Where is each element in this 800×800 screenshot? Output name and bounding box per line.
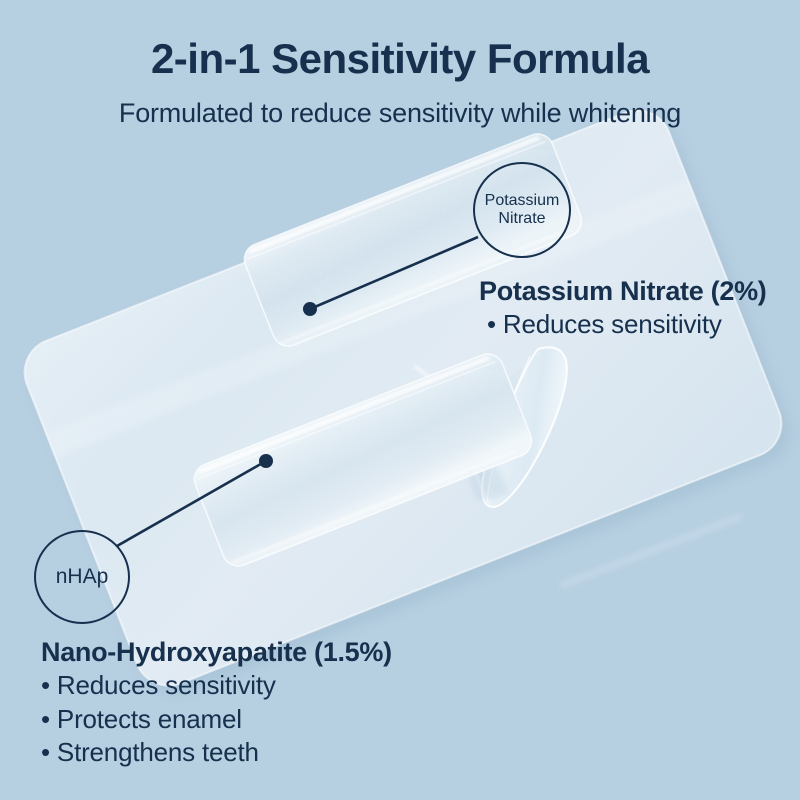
page-title: 2-in-1 Sensitivity Formula	[0, 38, 800, 80]
list-item: • Reduces sensitivity	[487, 308, 766, 342]
leader-dot-potassium-nitrate	[303, 302, 317, 316]
list-item: • Strengthens teeth	[41, 736, 392, 770]
page-subtitle: Formulated to reduce sensitivity while w…	[0, 100, 800, 127]
callout-badge-line-1: nHAp	[56, 565, 109, 589]
callout-text-potassium-nitrate: Potassium Nitrate (2%) • Reduces sensiti…	[479, 276, 766, 342]
infographic-canvas: 2-in-1 Sensitivity Formula Formulated to…	[0, 0, 800, 800]
callout-heading: Potassium Nitrate (2%)	[479, 276, 766, 308]
list-item: • Protects enamel	[41, 703, 392, 737]
leader-dot-nhap	[259, 454, 273, 468]
callout-text-nhap: Nano-Hydroxyapatite (1.5%) • Reduces sen…	[41, 637, 392, 770]
callout-bullet-list: • Reduces sensitivity	[479, 308, 766, 342]
callout-badge-potassium-nitrate: Potassium Nitrate	[473, 162, 571, 258]
callout-badge-nhap: nHAp	[34, 530, 130, 624]
callout-badge-line-1: Potassium	[485, 192, 560, 210]
list-item: • Reduces sensitivity	[41, 669, 392, 703]
callout-bullet-list: • Reduces sensitivity • Protects enamel …	[41, 669, 392, 770]
callout-badge-line-2: Nitrate	[485, 210, 560, 228]
callout-heading: Nano-Hydroxyapatite (1.5%)	[41, 637, 392, 669]
